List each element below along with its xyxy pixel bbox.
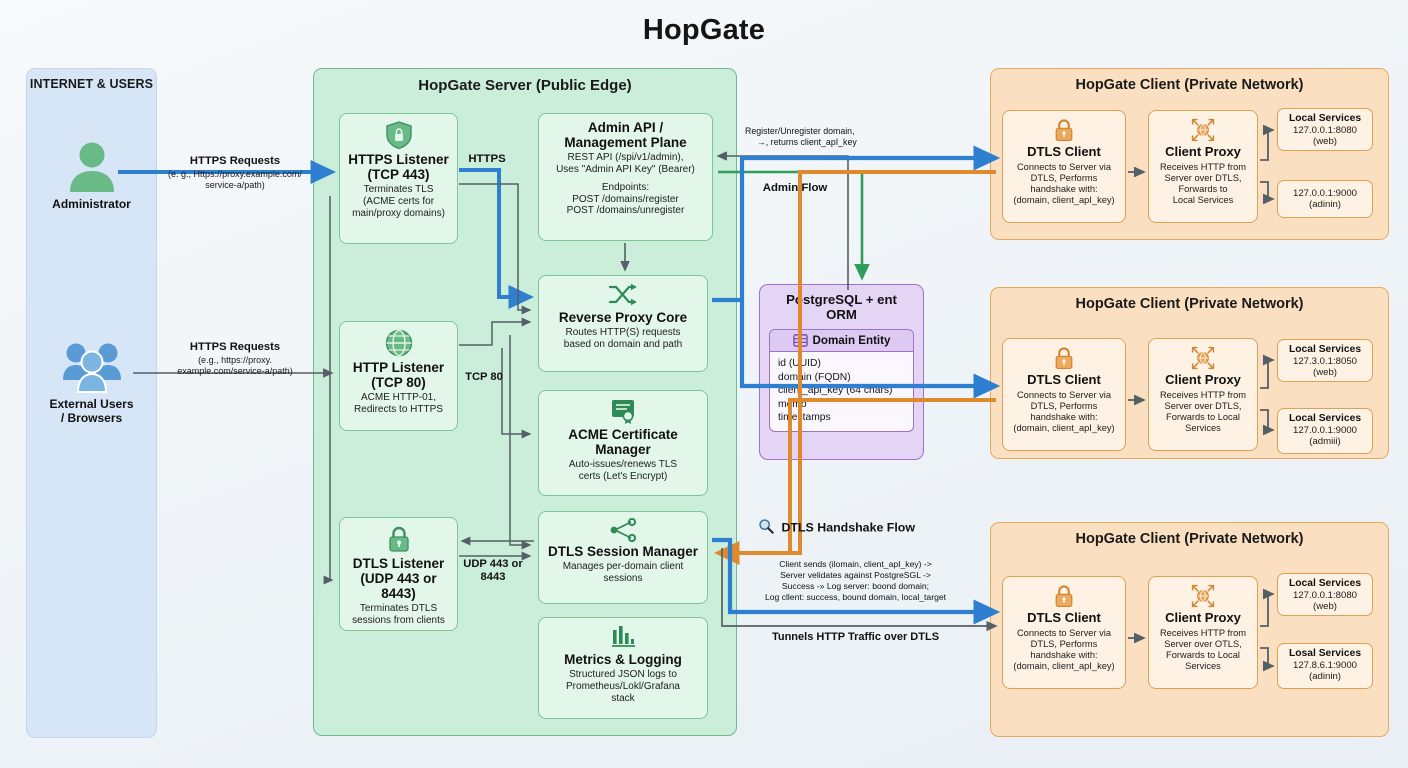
client-1-client-proxy[interactable]: Client Proxy Receives HTTP from Server o… [1148, 110, 1258, 223]
https-listener-sub-3: main/proxy domains) [345, 208, 452, 220]
entity-field: timestamps [778, 411, 905, 425]
client-3-service-admin-kind: (adinin) [1281, 671, 1369, 682]
network-hub-icon [1190, 345, 1216, 371]
actor-administrator-label: Administrator [26, 197, 157, 211]
edge-label-udp443-l2: 8443 [462, 571, 524, 584]
magnifier-icon [758, 518, 774, 534]
zone-client-2-title: HopGate Client (Private Network) [991, 296, 1388, 312]
client-3-client-proxy-sub-2: Server over OTLS, [1154, 639, 1252, 650]
zone-client-1-title: HopGate Client (Private Network) [991, 77, 1388, 93]
dtls-listener-sub-2: sessions from clients [345, 615, 452, 627]
zone-client-3-title: HopGate Client (Private Network) [991, 531, 1388, 547]
card-postgresql-ent-orm[interactable]: PostgreSQL + ent ORM Domain Entity id (U… [759, 284, 924, 460]
client-3-dtls-client-sub-3: handshake with: [1008, 650, 1120, 661]
client-2-client-proxy-sub-1: Receives HTTP from [1154, 390, 1252, 401]
edge-label-udp443: UDP 443 or 8443 [462, 558, 524, 585]
metrics-title: Metrics & Logging [544, 652, 702, 667]
metrics-sub-3: stack [544, 693, 702, 705]
client-2-service-admin[interactable]: Local Services 127.0.0.1:9000 (admiii) [1277, 408, 1373, 454]
proxy-core-title: Reverse Proxy Core [544, 310, 702, 325]
client-1-service-web-title: Local Services [1281, 113, 1369, 124]
domain-entity-header: Domain Entity [770, 330, 913, 352]
client-1-client-proxy-sub-3: Forwards to [1154, 184, 1252, 195]
client-2-dtls-client-sub-4: (domain, client_apI_key) [1008, 423, 1120, 434]
padlock-icon [384, 524, 414, 554]
client-2-service-web[interactable]: Local Services 127.3.0.1:8050 (web) [1277, 339, 1373, 382]
client-2-service-admin-addr: 127.0.0.1:9000 [1281, 425, 1369, 436]
domain-entity-fields: id (UUID) domain (FQDN) client_api_key (… [770, 352, 913, 431]
entity-field: domain (FQDN) [778, 371, 905, 385]
card-dtls-session-manager[interactable]: DTLS Session Manager Manages per-domain … [538, 511, 708, 604]
admin-api-endpoints-label: Endpoints: [544, 182, 707, 194]
card-acme-certificate-manager[interactable]: ACME Certificate Manager Auto-issues/ren… [538, 390, 708, 496]
client-2-service-admin-title: Local Services [1281, 413, 1369, 424]
edge-label-https-admin-sub-1: (e. g., Https://proxy.example.com/ [155, 169, 315, 180]
padlock-icon [1051, 117, 1077, 143]
bar-chart-icon [609, 624, 637, 650]
edge-label-https-users-sub-1: (e.g., https://proxy. [155, 355, 315, 366]
edge-label-https-users-sub-2: example.com/service-a/path) [155, 366, 315, 377]
handshake-line-3: Success -» Log server: boond domain; [733, 581, 978, 592]
acme-sub-2: certs (Let's Encrypt) [544, 471, 702, 483]
client-1-client-proxy-sub-1: Receives HTTP from [1154, 162, 1252, 173]
legend-dtls-handshake-body: Client sends (ilomain, client_apI_key) -… [733, 559, 978, 603]
edge-label-register-l2: →, returns client_apI_key [745, 137, 925, 148]
diagram-canvas: HopGate INTERNET & USERS HopGate Server … [0, 0, 1408, 768]
client-2-dtls-client-title: DTLS Client [1008, 373, 1120, 388]
https-listener-sub-1: Terminates TLS [345, 184, 452, 196]
user-icon [66, 140, 118, 194]
client-3-dtls-client-title: DTLS Client [1008, 611, 1120, 626]
metrics-sub-1: Structured JSON logs to [544, 669, 702, 681]
https-listener-sub-2: (ACME certs for [345, 196, 452, 208]
client-2-service-web-title: Local Services [1281, 344, 1369, 355]
client-1-dtls-client-sub-3: handshake with: [1008, 184, 1120, 195]
client-3-service-admin-addr: 127.8.6.1:9000 [1281, 660, 1369, 671]
certificate-icon [609, 397, 637, 425]
client-2-client-proxy-sub-3: Forwards to Local [1154, 412, 1252, 423]
handshake-line-1: Client sends (ilomain, client_apI_key) -… [733, 559, 978, 570]
actor-administrator: Administrator [26, 140, 157, 211]
client-1-service-admin[interactable]: 127.0.0.1:9000 (adinin) [1277, 180, 1373, 218]
client-1-dtls-client-sub-1: Connects to Server via [1008, 162, 1120, 173]
dtls-listener-sub-1: Terminates DTLS [345, 603, 452, 615]
client-3-service-admin[interactable]: Losal Services 127.8.6.1:9000 (adinin) [1277, 643, 1373, 689]
client-1-service-web-kind: (web) [1281, 136, 1369, 147]
client-1-service-admin-kind: (adinin) [1281, 199, 1369, 210]
client-1-service-web[interactable]: Local Services 127.0.0.1:8080 (web) [1277, 108, 1373, 151]
shield-lock-icon [384, 120, 414, 150]
http-listener-title-1: HTTP Listener [345, 360, 452, 375]
client-3-service-admin-title: Losal Services [1281, 648, 1369, 659]
edge-label-https-admin-title: HTTPS Requests [155, 155, 315, 168]
admin-api-endpoint-register: POST /domains/register [544, 194, 707, 206]
edge-proxy-to-client1-dtls [712, 158, 996, 300]
http-listener-sub-2: Redirects to HTTPS [345, 404, 452, 416]
client-3-service-web-title: Local Services [1281, 578, 1369, 589]
client-3-client-proxy[interactable]: Client Proxy Receives HTTP from Server o… [1148, 576, 1258, 689]
postgres-title: PostgreSQL + ent ORM [769, 292, 914, 322]
actor-external-users-label-1: External Users [26, 397, 157, 411]
dtls-session-title: DTLS Session Manager [544, 544, 702, 559]
actor-external-users-label-2: / Browsers [26, 411, 157, 425]
edge-label-register-unregister: Register/Unregister domain, →, returns c… [745, 126, 925, 149]
shuffle-icon [607, 282, 639, 308]
card-dtls-listener[interactable]: DTLS Listener (UDP 443 or 8443) Terminat… [339, 517, 458, 631]
zone-server-title: HopGate Server (Public Edge) [314, 77, 736, 94]
client-3-dtls-client[interactable]: DTLS Client Connects to Server via DTLS,… [1002, 576, 1126, 689]
client-2-dtls-client-sub-2: DTLS, Performs [1008, 401, 1120, 412]
https-listener-title-1: HTTPS Listener [345, 152, 452, 167]
entity-field: client_api_key (64 chars) [778, 384, 905, 398]
http-listener-sub-1: ACME HTTP-01, [345, 392, 452, 404]
card-metrics-logging[interactable]: Metrics & Logging Structured JSON logs t… [538, 617, 708, 719]
client-2-service-web-addr: 127.3.0.1:8050 [1281, 356, 1369, 367]
client-3-dtls-client-sub-2: DTLS, Performs [1008, 639, 1120, 650]
acme-sub-1: Auto-issues/renews TLS [544, 459, 702, 471]
edge-label-tcp80: TCP 80 [458, 371, 510, 384]
users-group-icon [61, 340, 123, 394]
client-2-client-proxy-sub-2: Server over DTLS, [1154, 401, 1252, 412]
edge-label-https: HTTPS [459, 153, 515, 167]
client-2-dtls-client-sub-1: Connects to Server via [1008, 390, 1120, 401]
handshake-line-2: Server velidates against PostgreSGL -> [733, 570, 978, 581]
client-1-dtls-client-sub-4: (domain, client_apI_key) [1008, 195, 1120, 206]
edge-label-https-users-title: HTTPS Requests [155, 341, 315, 354]
edge-label-https-admin-sub-2: service-a/path) [155, 180, 315, 191]
client-3-client-proxy-sub-3: Forwards to Local [1154, 650, 1252, 661]
client-1-dtls-client[interactable]: DTLS Client Connects to Server via DTLS,… [1002, 110, 1126, 223]
client-1-client-proxy-sub-4: Local Services [1154, 195, 1252, 206]
admin-api-sub-2: Uses "Admin API Key" (Bearer) [544, 164, 707, 176]
admin-api-title-2: Management Plane [544, 135, 707, 150]
admin-api-sub-1: REST API (/spi/v1/admin), [544, 152, 707, 164]
edge-label-udp443-l1: UDP 443 or [462, 558, 524, 571]
edge-label-https-admin: HTTPS Requests (e. g., Https://proxy.exa… [155, 155, 315, 191]
dtls-session-sub-1: Manages per-domain client [544, 561, 702, 573]
acme-title-1: ACME Certificate [544, 427, 702, 442]
metrics-sub-2: Prometheus/Lokl/Grafana [544, 681, 702, 693]
handshake-line-4: Log cllent: success, bound domain, local… [733, 592, 978, 603]
client-2-service-web-kind: (web) [1281, 367, 1369, 378]
client-3-service-web-kind: (web) [1281, 601, 1369, 612]
client-3-service-web-addr: 127.0.0.1:8080 [1281, 590, 1369, 601]
client-3-client-proxy-sub-1: Receives HTTP from [1154, 628, 1252, 639]
proxy-core-sub-1: Routes HTTP(S) requests [544, 327, 702, 339]
entity-field: id (UUID) [778, 357, 905, 371]
edge-label-admin-flow: Admin Flow [746, 182, 844, 196]
network-hub-icon [1190, 117, 1216, 143]
edge-register-return [718, 156, 848, 290]
client-3-dtls-client-sub-4: (domain, client_apI_key) [1008, 661, 1120, 672]
client-2-dtls-client[interactable]: DTLS Client Connects to Server via DTLS,… [1002, 338, 1126, 451]
admin-api-title-1: Admin API / [544, 120, 707, 135]
page-title: HopGate [0, 14, 1408, 47]
client-1-client-proxy-sub-2: Server over DTLS, [1154, 173, 1252, 184]
legend-dtls-handshake-flow: DTLS Handshake Flow [758, 518, 938, 538]
client-2-client-proxy-title: Client Proxy [1154, 373, 1252, 388]
dtls-session-sub-2: sessions [544, 573, 702, 585]
edge-label-tunnels-http-over-dtls: Tunnels HTTP Traffic over DTLS [733, 631, 978, 644]
client-2-client-proxy[interactable]: Client Proxy Receives HTTP from Server o… [1148, 338, 1258, 451]
http-listener-title-2: (TCP 80) [345, 375, 452, 390]
legend-dtls-handshake-title: DTLS Handshake Flow [781, 521, 915, 535]
entity-field: memo [778, 398, 905, 412]
actor-external-users: External Users / Browsers [26, 340, 157, 426]
client-1-service-admin-addr: 127.0.0.1:9000 [1281, 188, 1369, 199]
edge-label-register-l1: Register/Unregister domain, [745, 126, 925, 137]
domain-entity: Domain Entity id (UUID) domain (FQDN) cl… [769, 329, 914, 432]
padlock-icon [1051, 345, 1077, 371]
zone-internet-title: INTERNET & USERS [27, 77, 156, 91]
client-2-service-admin-kind: (admiii) [1281, 436, 1369, 447]
client-1-dtls-client-sub-2: DTLS, Performs [1008, 173, 1120, 184]
acme-title-2: Manager [544, 442, 702, 457]
admin-api-endpoint-unregister: POST /domains/unregister [544, 205, 707, 217]
card-reverse-proxy-core[interactable]: Reverse Proxy Core Routes HTTP(S) reques… [538, 275, 708, 372]
share-nodes-icon [608, 518, 638, 542]
domain-entity-name: Domain Entity [813, 334, 891, 347]
globe-icon [384, 328, 414, 358]
network-hub-icon [1190, 583, 1216, 609]
client-2-dtls-client-sub-3: handshake with: [1008, 412, 1120, 423]
card-admin-api[interactable]: Admin API / Management Plane REST API (/… [538, 113, 713, 241]
table-icon [793, 333, 808, 348]
dtls-listener-title-2: (UDP 443 or 8443) [345, 571, 452, 601]
card-http-listener[interactable]: HTTP Listener (TCP 80) ACME HTTP-01, Red… [339, 321, 458, 431]
client-3-client-proxy-sub-4: Services [1154, 661, 1252, 672]
client-3-service-web[interactable]: Local Services 127.0.0.1:8080 (web) [1277, 573, 1373, 616]
edge-label-https-users: HTTPS Requests (e.g., https://proxy. exa… [155, 341, 315, 377]
client-1-service-web-addr: 127.0.0.1:8080 [1281, 125, 1369, 136]
padlock-icon [1051, 583, 1077, 609]
client-1-client-proxy-title: Client Proxy [1154, 145, 1252, 160]
card-https-listener[interactable]: HTTPS Listener (TCP 443) Terminates TLS … [339, 113, 458, 244]
client-1-dtls-client-title: DTLS Client [1008, 145, 1120, 160]
client-2-client-proxy-sub-4: Services [1154, 423, 1252, 434]
dtls-listener-title-1: DTLS Listener [345, 556, 452, 571]
proxy-core-sub-2: based on domain and path [544, 339, 702, 351]
client-3-dtls-client-sub-1: Connects to Server via [1008, 628, 1120, 639]
client-3-client-proxy-title: Client Proxy [1154, 611, 1252, 626]
https-listener-title-2: (TCP 443) [345, 167, 452, 182]
